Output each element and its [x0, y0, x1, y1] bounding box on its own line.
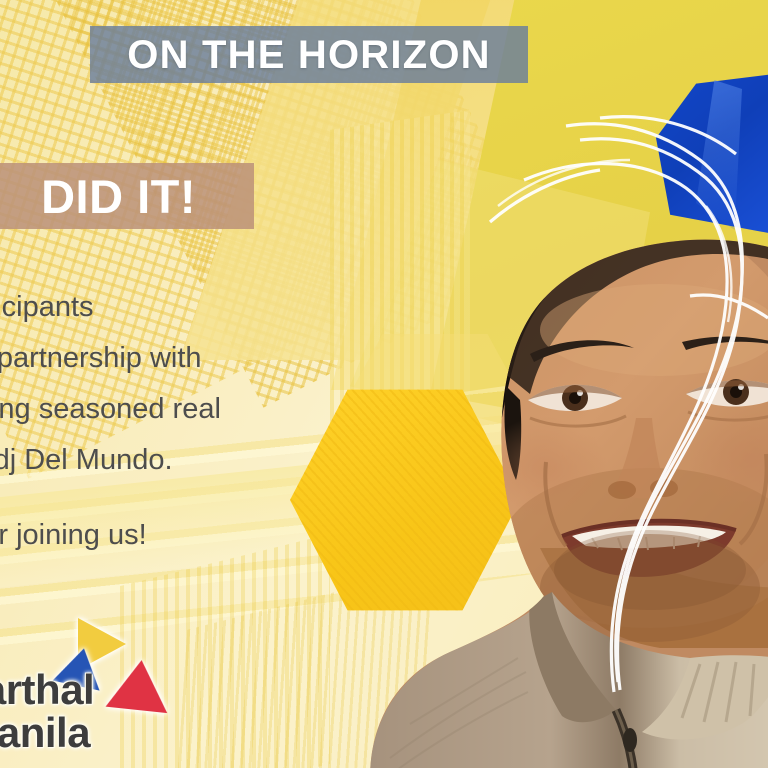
header-banner-text: ON THE HORIZON [127, 35, 490, 75]
body-copy-line-4: , Badj Del Mundo. [0, 435, 362, 486]
body-copy-line-2: n in partnership with [0, 333, 362, 384]
body-copy: Participants n in partnership with aturi… [0, 282, 362, 486]
body-copy-line-1: Participants [0, 282, 362, 333]
header-banner: ON THE HORIZON [90, 26, 528, 83]
body-copy-line-3: aturing seasoned real [0, 384, 362, 435]
logo-wordmark-line-2: manila [0, 711, 94, 754]
logo-wordmark-line-1: carthal [0, 668, 94, 711]
closing-line: u for joining us! [0, 521, 147, 550]
portrait-photo [330, 118, 768, 768]
logo-wordmark: carthal manila [0, 668, 94, 754]
promo-graphic-canvas: ON THE HORIZON DID IT! Participants n in… [0, 0, 768, 768]
headline-banner: DID IT! [0, 163, 254, 229]
brand-logo: carthal manila [0, 612, 205, 747]
headline-banner-text: DID IT! [41, 173, 196, 220]
triangle-red-icon [106, 657, 173, 713]
